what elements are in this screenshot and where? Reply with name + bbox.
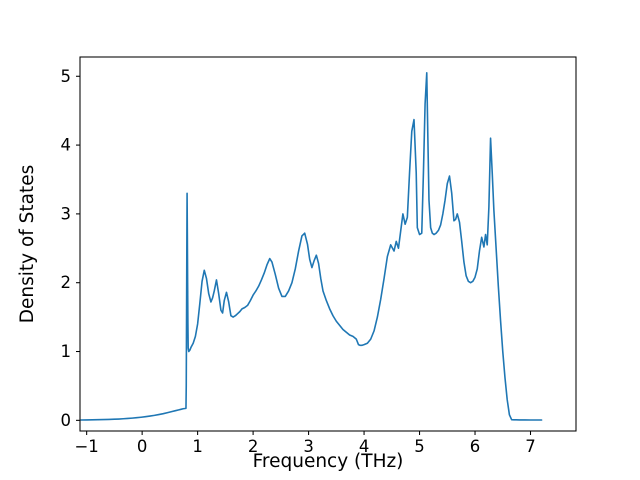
x-tick-label: −1 — [74, 437, 98, 456]
figure-canvas: −101234567 012345 Frequency (THz) Densit… — [0, 0, 640, 480]
y-tick-label: 5 — [61, 67, 72, 86]
x-tick-label: 1 — [192, 437, 203, 456]
figure-background — [0, 0, 640, 480]
y-tick-label: 0 — [61, 411, 72, 430]
x-tick-label: 5 — [414, 437, 425, 456]
y-axis-title: Density of States — [17, 165, 38, 324]
x-tick-label: 7 — [525, 437, 536, 456]
x-tick-label: 0 — [137, 437, 148, 456]
y-tick-label: 1 — [61, 342, 72, 361]
x-axis-title: Frequency (THz) — [253, 451, 404, 472]
y-tick-label: 2 — [61, 273, 72, 292]
x-tick-label: 6 — [470, 437, 481, 456]
y-tick-label: 3 — [61, 204, 72, 223]
dos-plot: −101234567 012345 Frequency (THz) Densit… — [0, 0, 640, 480]
y-tick-label: 4 — [61, 136, 72, 155]
